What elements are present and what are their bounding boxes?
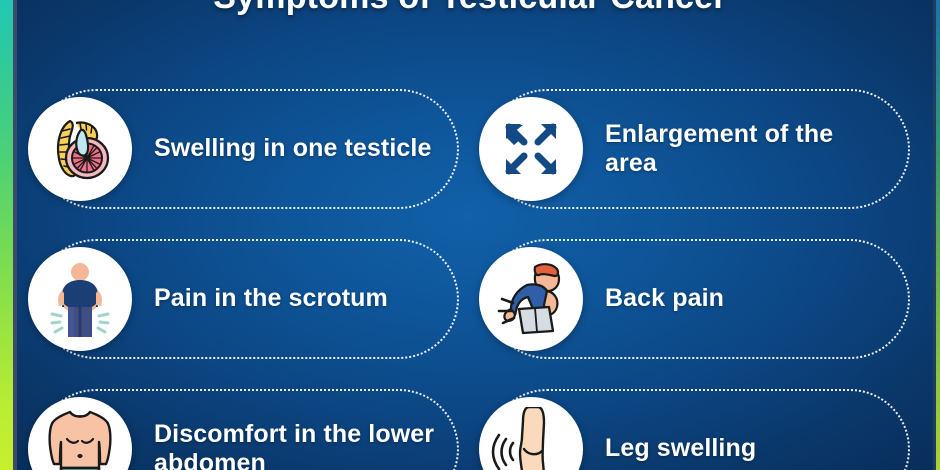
symptom-label: Leg swelling <box>605 434 786 464</box>
expand-arrows-icon <box>499 117 563 181</box>
symptom-card-back-pain[interactable]: Back pain <box>477 238 920 360</box>
symptoms-grid: Swelling in one testicle <box>26 88 920 470</box>
icon-badge <box>479 397 583 470</box>
testicle-anatomy-icon <box>40 109 120 189</box>
icon-badge <box>28 247 132 351</box>
page-title: Symptoms of Testicular Cancer <box>0 0 940 17</box>
man-back-pain-icon <box>489 257 573 341</box>
icon-badge <box>28 397 132 470</box>
left-accent-gradient-strip <box>0 0 13 470</box>
symptom-label: Discomfort in the lower abdomen <box>154 420 469 470</box>
icon-badge <box>479 247 583 351</box>
man-groin-pain-icon <box>39 258 121 340</box>
icon-badge <box>479 97 583 201</box>
symptom-card-pain-in-scrotum[interactable]: Pain in the scrotum <box>26 238 469 360</box>
symptom-label: Back pain <box>605 284 754 314</box>
infographic-canvas: Symptoms of Testicular Cancer <box>0 0 940 470</box>
symptom-card-enlargement-of-area[interactable]: Enlargement of the area <box>477 88 920 210</box>
left-divider-line <box>13 0 17 470</box>
symptom-label: Swelling in one testicle <box>154 134 461 164</box>
male-torso-abdomen-icon <box>37 406 123 470</box>
symptom-label: Pain in the scrotum <box>154 284 418 314</box>
icon-badge <box>28 97 132 201</box>
symptom-card-discomfort-lower-abdomen[interactable]: Discomfort in the lower abdomen <box>26 388 469 470</box>
right-accent-gradient-strip <box>936 0 940 470</box>
symptom-label: Enlargement of the area <box>605 120 920 179</box>
symptom-card-swelling-one-testicle[interactable]: Swelling in one testicle <box>26 88 469 210</box>
symptom-card-leg-swelling[interactable]: Leg swelling <box>477 388 920 470</box>
swollen-leg-icon <box>489 407 573 470</box>
